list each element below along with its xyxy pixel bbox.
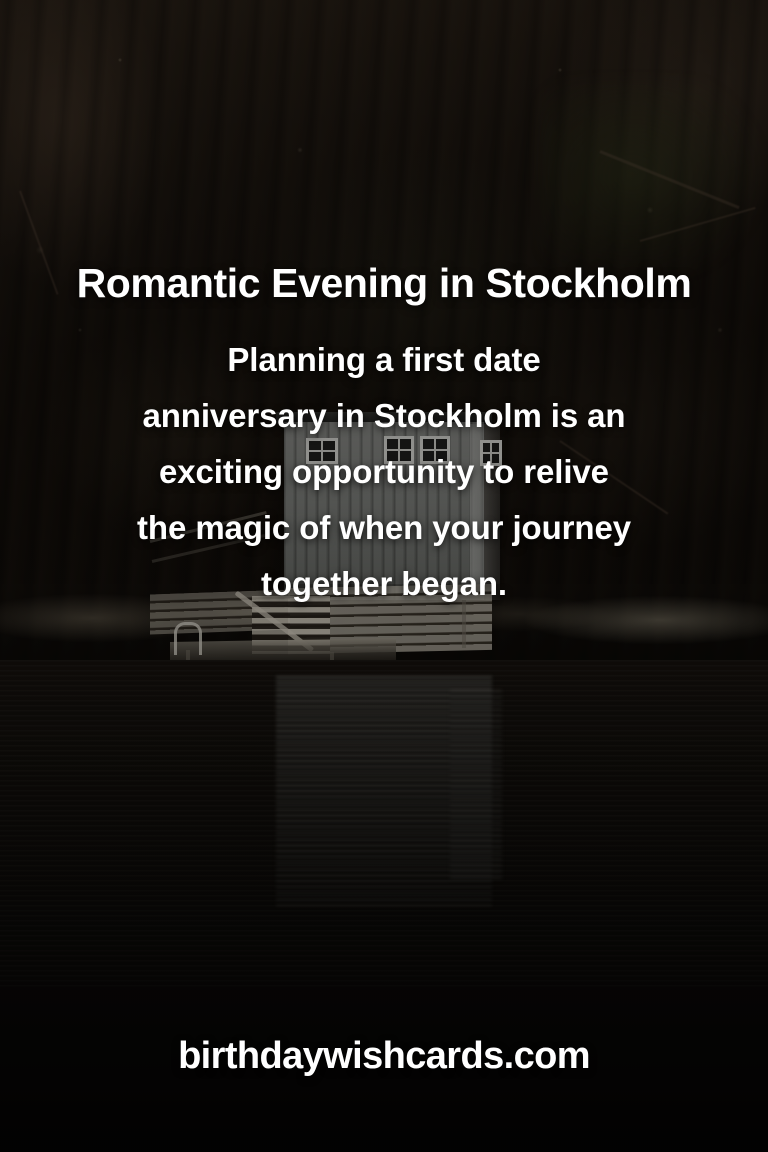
body-text-line: anniversary in Stockholm is an [54, 388, 714, 444]
body-text: Planning a first date anniversary in Sto… [54, 332, 714, 612]
body-text-line: Planning a first date [54, 332, 714, 388]
site-watermark: birthdaywishcards.com [0, 1035, 768, 1078]
page-title: Romantic Evening in Stockholm [0, 258, 768, 308]
greeting-card: Romantic Evening in Stockholm Planning a… [0, 0, 768, 1152]
text-overlay: Romantic Evening in Stockholm Planning a… [0, 0, 768, 1152]
body-text-line: exciting opportunity to relive [54, 444, 714, 500]
body-text-line: the magic of when your journey [54, 500, 714, 556]
body-text-line: together began. [54, 556, 714, 612]
